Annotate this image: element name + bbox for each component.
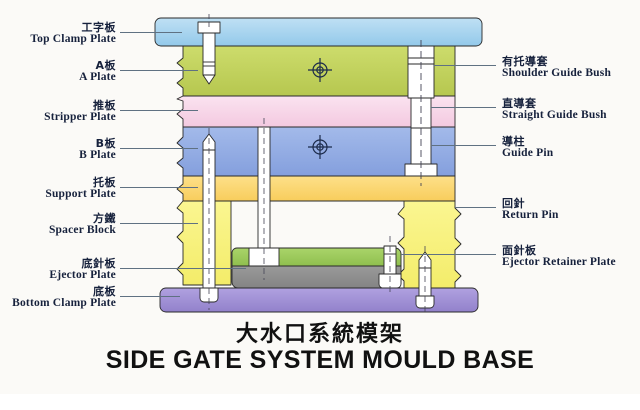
label-spacer-block-en: Spacer Block	[49, 225, 116, 237]
bottom-white-band	[0, 394, 640, 410]
label-ejector-retainer-plate-en: Ejector Retainer Plate	[502, 257, 616, 269]
label-ejector-plate: 底針板 Ejector Plate	[49, 258, 116, 282]
label-ejector-retainer-plate-cn: 面針板	[502, 245, 616, 256]
label-b-plate: B板 B Plate	[79, 138, 116, 162]
label-straight-guide-bush-cn: 直導套	[502, 98, 607, 109]
label-a-plate-en: A Plate	[79, 72, 116, 84]
title-chinese: 大水口系統模架	[0, 316, 640, 348]
label-support-plate-cn: 托板	[45, 177, 116, 188]
title-english: SIDE GATE SYSTEM MOULD BASE	[0, 346, 640, 375]
leader-guide-pin	[431, 145, 496, 146]
label-stripper-plate: 推板 Stripper Plate	[44, 100, 116, 124]
label-bottom-clamp-plate-en: Bottom Clamp Plate	[12, 298, 116, 310]
leader-support-plate	[120, 187, 198, 188]
label-bottom-clamp-plate-cn: 底板	[12, 286, 116, 297]
label-straight-guide-bush-en: Straight Guide Bush	[502, 110, 607, 122]
label-guide-pin-cn: 導柱	[502, 136, 553, 147]
label-return-pin: 回針 Return Pin	[502, 198, 559, 222]
leader-return-pin	[455, 207, 496, 208]
leader-stripper-plate	[120, 110, 198, 111]
label-support-plate: 托板 Support Plate	[45, 177, 116, 201]
plate-support	[177, 176, 455, 201]
label-guide-pin: 導柱 Guide Pin	[502, 136, 553, 160]
leader-ejector-retainer-plate	[401, 254, 496, 255]
leader-spacer-block	[120, 223, 198, 224]
leader-top-clamp-plate	[120, 32, 182, 33]
label-b-plate-cn: B板	[79, 138, 116, 149]
label-ejector-plate-en: Ejector Plate	[49, 270, 116, 282]
label-shoulder-guide-bush: 有托導套 Shoulder Guide Bush	[502, 56, 611, 80]
leader-b-plate	[120, 148, 198, 149]
label-top-clamp-plate-en: Top Clamp Plate	[30, 34, 116, 46]
return-pin-left	[200, 128, 218, 310]
leader-ejector-plate	[120, 268, 246, 269]
label-bottom-clamp-plate: 底板 Bottom Clamp Plate	[12, 286, 116, 310]
plate-ejector	[232, 266, 401, 288]
label-spacer-block: 方鐵 Spacer Block	[49, 213, 116, 237]
label-a-plate-cn: A板	[79, 60, 116, 71]
leader-a-plate	[120, 70, 198, 71]
mould-base-diagram-page: 工字板 Top Clamp Plate A板 A Plate 推板 Stripp…	[0, 0, 640, 410]
label-top-clamp-plate: 工字板 Top Clamp Plate	[30, 22, 116, 46]
label-support-plate-en: Support Plate	[45, 189, 116, 201]
label-return-pin-en: Return Pin	[502, 210, 559, 222]
label-stripper-plate-en: Stripper Plate	[44, 112, 116, 124]
label-return-pin-cn: 回針	[502, 198, 559, 209]
label-top-clamp-plate-cn: 工字板	[30, 22, 116, 33]
leader-shoulder-guide-bush	[434, 65, 496, 66]
label-spacer-block-cn: 方鐵	[49, 213, 116, 224]
label-shoulder-guide-bush-en: Shoulder Guide Bush	[502, 68, 611, 80]
label-b-plate-en: B Plate	[79, 150, 116, 162]
label-guide-pin-en: Guide Pin	[502, 148, 553, 160]
label-a-plate: A板 A Plate	[79, 60, 116, 84]
label-stripper-plate-cn: 推板	[44, 100, 116, 111]
leader-straight-guide-bush	[431, 107, 496, 108]
leader-bottom-clamp-plate	[120, 296, 180, 297]
label-shoulder-guide-bush-cn: 有托導套	[502, 56, 611, 67]
label-ejector-plate-cn: 底針板	[49, 258, 116, 269]
label-ejector-retainer-plate: 面針板 Ejector Retainer Plate	[502, 245, 616, 269]
label-straight-guide-bush: 直導套 Straight Guide Bush	[502, 98, 607, 122]
